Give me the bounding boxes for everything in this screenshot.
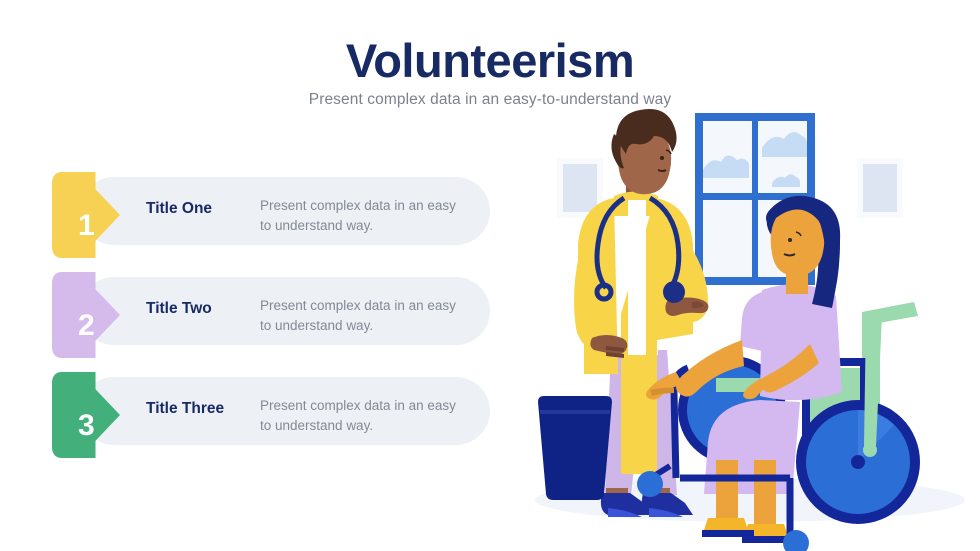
numbered-list: 1 Title One Present complex data in an e… [52, 172, 492, 472]
wheelchair-footplate-near [702, 530, 754, 537]
list-item-description: Present complex data in an easy to under… [260, 196, 460, 235]
patient-leg-near [716, 460, 738, 522]
list-item-description: Present complex data in an easy to under… [260, 296, 460, 335]
list-item-description: Present complex data in an easy to under… [260, 396, 460, 435]
list-item-title: Title Three [146, 400, 266, 418]
list-item[interactable]: 3 Title Three Present complex data in an… [52, 372, 492, 458]
slide-canvas: Volunteerism Present complex data in an … [0, 0, 980, 551]
doctor-shirt-stripe [628, 200, 646, 355]
wheelchair-wheel-near [796, 400, 920, 524]
trash-bin-icon [538, 396, 612, 500]
patient-sleeve-near [740, 292, 770, 352]
patient-shoe-near [704, 518, 748, 530]
page-title: Volunteerism [0, 36, 980, 85]
list-item-number: 2 [78, 311, 95, 341]
doctor-patient-illustration [510, 100, 980, 551]
patient-head [771, 209, 825, 276]
list-item-title: Title Two [146, 300, 266, 318]
list-item-number: 1 [78, 211, 95, 241]
wheelchair-caster-left [637, 471, 663, 497]
list-item-title: Title One [146, 200, 266, 218]
stethoscope-chestpiece [663, 281, 685, 303]
list-item[interactable]: 1 Title One Present complex data in an e… [52, 172, 492, 258]
wall-frame-right-icon [857, 158, 903, 218]
list-item[interactable]: 2 Title Two Present complex data in an e… [52, 272, 492, 358]
patient-leg-far [754, 460, 776, 526]
slide-header: Volunteerism Present complex data in an … [0, 36, 980, 109]
list-item-number: 3 [78, 411, 95, 441]
